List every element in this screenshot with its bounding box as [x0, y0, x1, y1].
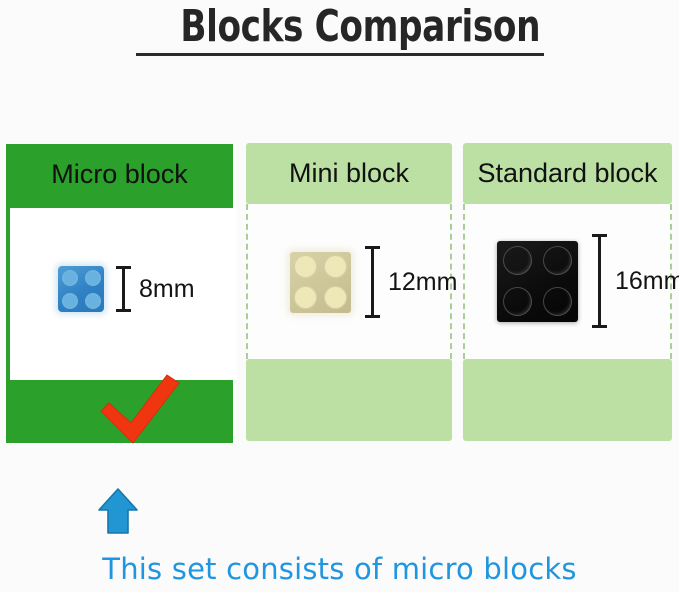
brick-stud	[62, 270, 78, 286]
dimension-bar	[598, 234, 601, 328]
panel-standard-header: Standard block	[463, 143, 672, 204]
brick-stud	[294, 286, 317, 309]
micro-block-row: 8mm	[58, 266, 195, 312]
brick-stud	[543, 246, 572, 275]
brick-stud	[503, 246, 532, 275]
standard-dimension: 16mm	[598, 234, 679, 328]
brick-stud	[324, 286, 347, 309]
brick-stud	[324, 255, 347, 278]
arrow-up-icon	[95, 487, 141, 535]
mini-dimension-label: 12mm	[388, 268, 457, 297]
mini-block-row: 12mm	[290, 246, 457, 318]
caption-text: This set consists of micro blocks	[0, 552, 679, 586]
micro-dimension-label: 8mm	[139, 275, 195, 304]
dimension-bar	[122, 266, 125, 312]
panel-micro-body: 8mm	[10, 208, 237, 380]
page-title: Blocks Comparison	[180, 2, 501, 52]
micro-brick-image	[58, 266, 104, 312]
title-underline	[136, 53, 544, 56]
panel-mini-header: Mini block	[246, 143, 452, 204]
micro-dimension: 8mm	[122, 266, 195, 312]
brick-stud	[85, 270, 101, 286]
brick-stud	[62, 293, 78, 309]
panel-standard-body: 16mm	[463, 204, 672, 359]
brick-stud	[543, 287, 572, 316]
mini-brick-image	[290, 252, 351, 313]
title-block: Blocks Comparison	[0, 0, 679, 70]
panel-standard-block[interactable]: Standard block 16mm	[463, 143, 672, 441]
brick-stud	[503, 287, 532, 316]
standard-dimension-label: 16mm	[615, 267, 679, 296]
panel-standard-footer	[463, 359, 672, 441]
panel-mini-block[interactable]: Mini block 12mm	[246, 143, 452, 441]
brick-stud	[294, 255, 317, 278]
check-mark-icon	[97, 373, 183, 445]
panel-mini-body: 12mm	[246, 204, 452, 359]
panel-micro-header: Micro block	[6, 144, 233, 208]
standard-block-row: 16mm	[497, 234, 679, 328]
mini-dimension: 12mm	[371, 246, 457, 318]
dimension-bar	[371, 246, 374, 318]
brick-stud	[85, 293, 101, 309]
panel-mini-label: Mini block	[289, 158, 409, 189]
panel-mini-footer	[246, 359, 452, 441]
standard-brick-image	[497, 241, 578, 322]
panel-standard-label: Standard block	[477, 158, 657, 189]
panel-micro-label: Micro block	[51, 159, 188, 190]
